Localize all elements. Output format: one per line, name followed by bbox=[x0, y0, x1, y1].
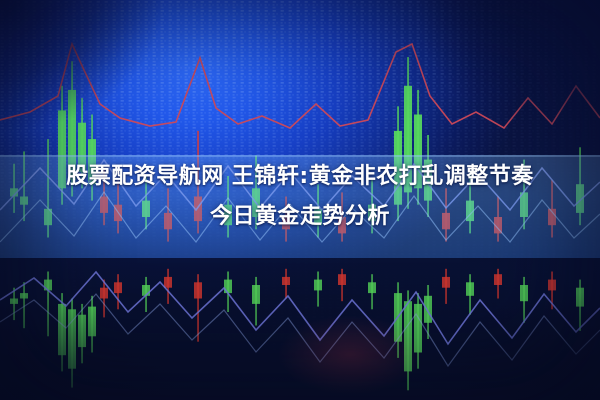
banner-image: 股票配资导航网 王锦轩:黄金非农打乱调整节奏 今日黄金走势分析 bbox=[0, 0, 600, 400]
headline: 股票配资导航网 王锦轩:黄金非农打乱调整节奏 今日黄金走势分析 bbox=[0, 160, 600, 234]
headline-line-2: 今日黄金走势分析 bbox=[0, 200, 600, 234]
headline-line-1: 股票配资导航网 王锦轩:黄金非农打乱调整节奏 bbox=[0, 160, 600, 194]
